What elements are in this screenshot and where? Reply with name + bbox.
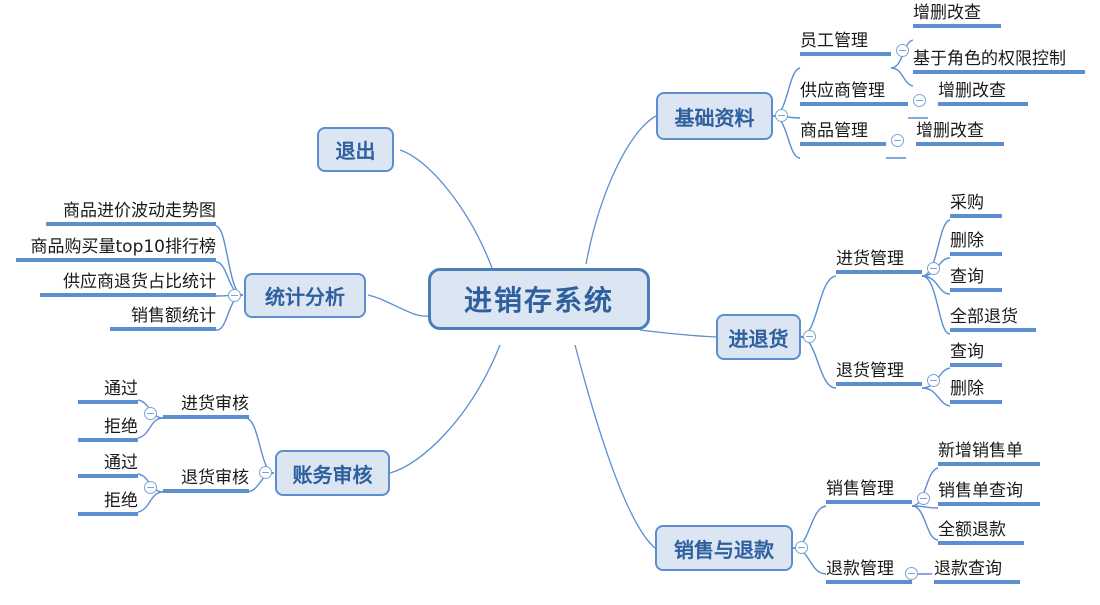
node-rule-tuikuan-tuikuanchaxun [934, 580, 1020, 584]
node-rule-tongji-xiaoshouetongji [110, 327, 216, 331]
branch-label-xiaoshouyutuikuan: 销售与退款 [674, 534, 774, 563]
collapse-icon-gongyingshangguanli[interactable] [913, 94, 926, 107]
node-rule-tuihuoshenhe [163, 489, 249, 493]
branch-label-tuichu: 退出 [336, 135, 376, 164]
node-rule-xiaoshouguanli [826, 500, 912, 504]
node-tuihuoguanli[interactable]: 退货管理 [836, 363, 922, 389]
node-label-xiaoshou-quanetuikuan: 全额退款 [938, 522, 1024, 539]
node-rule-tuihuoguanli [836, 382, 922, 386]
branch-node-zhangwushenhe[interactable]: 账务审核 [275, 450, 390, 496]
node-label-tongji-top10paihangbang: 商品购买量top10排行榜 [16, 239, 216, 256]
node-jinhuo-shanchu[interactable]: 删除 [950, 233, 1002, 259]
node-label-xiaoshou-xiaoshoudanchaxun: 销售单查询 [938, 483, 1040, 500]
node-label-tuihuo-shanchu: 删除 [950, 381, 1002, 398]
node-tongji-xiaoshouetongji[interactable]: 销售额统计 [110, 308, 216, 334]
node-label-jinhuoguanli: 进货管理 [836, 251, 922, 268]
node-tongji-jinjiabodongzoushitu[interactable]: 商品进价波动走势图 [46, 203, 216, 229]
node-label-jinhuo-caigou: 采购 [950, 195, 1002, 212]
node-shangpinguanli[interactable]: 商品管理 [800, 123, 886, 149]
branch-label-zhangwushenhe: 账务审核 [293, 459, 373, 488]
branch-label-jintuihuo: 进退货 [729, 323, 789, 352]
node-tuikuan-tuikuanchaxun[interactable]: 退款查询 [934, 561, 1020, 587]
branch-node-tongjifenxi[interactable]: 统计分析 [244, 273, 366, 318]
node-xiaoshou-xiaoshoudanchaxun[interactable]: 销售单查询 [938, 483, 1040, 509]
branch-label-tongjifenxi: 统计分析 [265, 281, 345, 310]
node-gongyingshangguanli[interactable]: 供应商管理 [800, 83, 908, 109]
node-tongji-top10paihangbang[interactable]: 商品购买量top10排行榜 [16, 239, 216, 265]
node-label-tuihuoshenhe-tongguo: 通过 [78, 455, 138, 472]
node-label-shangpin-zengshangaicha: 增删改查 [916, 123, 1004, 140]
node-rule-yuangongguanli [800, 52, 891, 56]
node-label-jinhuoshenhe-tongguo: 通过 [78, 381, 138, 398]
node-rule-jinhuo-caigou [950, 214, 1002, 218]
node-label-xiaoshou-xinzengxiaoshoudan: 新增销售单 [938, 443, 1040, 460]
node-label-tongji-jinjiabodongzoushitu: 商品进价波动走势图 [46, 203, 216, 220]
collapse-icon-tuikuanguanli[interactable] [905, 567, 918, 580]
node-label-jinhuo-chaxun: 查询 [950, 269, 1002, 286]
node-label-jinhuoshenhe-jujue: 拒绝 [78, 419, 138, 436]
node-jinhuo-quanbutuihuo[interactable]: 全部退货 [950, 309, 1036, 335]
node-yuangong-zengshangaicha[interactable]: 增删改查 [913, 5, 1001, 31]
node-tuihuoshenhe-jujue[interactable]: 拒绝 [78, 493, 138, 519]
node-label-jinhuo-quanbutuihuo: 全部退货 [950, 309, 1036, 326]
node-jinhuo-chaxun[interactable]: 查询 [950, 269, 1002, 295]
node-xiaoshou-quanetuikuan[interactable]: 全额退款 [938, 522, 1024, 548]
node-label-tuihuoshenhe-jujue: 拒绝 [78, 493, 138, 510]
node-label-gongyingshang-zengshangaicha: 增删改查 [938, 83, 1028, 100]
node-label-jinhuoshenhe: 进货审核 [163, 396, 249, 413]
node-tuihuoshenhe[interactable]: 退货审核 [163, 470, 249, 496]
node-label-gongyingshangguanli: 供应商管理 [800, 83, 908, 100]
node-rule-yuangong-zengshangaicha [913, 24, 1001, 28]
node-rule-xiaoshou-xiaoshoudanchaxun [938, 502, 1040, 506]
node-rule-jinhuo-shanchu [950, 252, 1002, 256]
node-rule-tuihuo-shanchu [950, 400, 1002, 404]
node-rule-jinhuoshenhe-tongguo [78, 400, 138, 404]
collapse-icon-xiaoshouyutuikuan[interactable] [795, 541, 808, 554]
node-rule-xiaoshou-xinzengxiaoshoudan [938, 462, 1040, 466]
node-jinhuoguanli[interactable]: 进货管理 [836, 251, 922, 277]
collapse-icon-tuihuoshenhe[interactable] [144, 481, 157, 494]
node-jinhuoshenhe-tongguo[interactable]: 通过 [78, 381, 138, 407]
node-rule-jinhuo-chaxun [950, 288, 1002, 292]
node-tuihuo-chaxun[interactable]: 查询 [950, 344, 1002, 370]
node-xiaoshou-xinzengxiaoshoudan[interactable]: 新增销售单 [938, 443, 1040, 469]
node-label-xiaoshouguanli: 销售管理 [826, 481, 912, 498]
node-rule-tongji-top10paihangbang [16, 258, 216, 262]
branch-node-jintuihuo[interactable]: 进退货 [716, 314, 801, 360]
root-node-label: 进销存系统 [464, 279, 614, 319]
node-label-shangpinguanli: 商品管理 [800, 123, 886, 140]
root-node-jinxiaocun[interactable]: 进销存系统 [428, 268, 650, 330]
branch-node-jichuziliao[interactable]: 基础资料 [656, 92, 773, 140]
collapse-icon-jinhuoguanli[interactable] [927, 262, 940, 275]
collapse-icon-tuihuoguanli[interactable] [927, 374, 940, 387]
node-tuihuo-shanchu[interactable]: 删除 [950, 381, 1002, 407]
collapse-icon-yuangongguanli[interactable] [896, 44, 909, 57]
node-label-jinhuo-shanchu: 删除 [950, 233, 1002, 250]
node-rule-jinhuoguanli [836, 270, 922, 274]
node-label-tuikuan-tuikuanchaxun: 退款查询 [934, 561, 1020, 578]
collapse-icon-xiaoshouguanli[interactable] [917, 492, 930, 505]
node-jinhuoshenhe[interactable]: 进货审核 [163, 396, 249, 422]
node-rule-jinhuo-quanbutuihuo [950, 328, 1036, 332]
node-rule-gongyingshang-zengshangaicha [938, 102, 1028, 106]
node-rule-jinhuoshenhe-jujue [78, 438, 138, 442]
node-rule-shangpinguanli [800, 142, 886, 146]
node-rule-gongyingshangguanli [800, 102, 908, 106]
node-yuangong-quanxiankongzhi[interactable]: 基于角色的权限控制 [913, 51, 1085, 77]
node-label-tuihuoshenhe: 退货审核 [163, 470, 249, 487]
collapse-icon-jichuziliao[interactable] [775, 109, 788, 122]
node-rule-tuihuoshenhe-jujue [78, 512, 138, 516]
node-rule-tuihuo-chaxun [950, 363, 1002, 367]
node-rule-tuikuanguanli [826, 580, 912, 584]
node-rule-tongji-tuihuozhanbitongji [40, 293, 216, 297]
branch-node-tuichu[interactable]: 退出 [317, 127, 394, 172]
node-shangpin-zengshangaicha[interactable]: 增删改查 [916, 123, 1004, 149]
node-rule-yuangong-quanxiankongzhi [913, 70, 1085, 74]
branch-label-jichuziliao: 基础资料 [675, 102, 755, 131]
collapse-icon-jintuihuo[interactable] [803, 330, 816, 343]
collapse-icon-tongjifenxi[interactable] [228, 289, 241, 302]
node-tuikuanguanli[interactable]: 退款管理 [826, 561, 912, 587]
node-jinhuoshenhe-jujue[interactable]: 拒绝 [78, 419, 138, 445]
node-label-yuangongguanli: 员工管理 [800, 33, 891, 50]
node-rule-xiaoshou-quanetuikuan [938, 541, 1024, 545]
mindmap-canvas: 进销存系统 基础资料 进退货 销售与退款 退出 统计分析 账务审核 员工管理 增… [0, 0, 1100, 605]
node-label-tongji-tuihuozhanbitongji: 供应商退货占比统计 [40, 274, 216, 291]
collapse-icon-shangpinguanli[interactable] [891, 134, 904, 147]
node-jinhuo-caigou[interactable]: 采购 [950, 195, 1002, 221]
node-label-yuangong-quanxiankongzhi: 基于角色的权限控制 [913, 51, 1085, 68]
node-label-tuihuoguanli: 退货管理 [836, 363, 922, 380]
node-label-tongji-xiaoshouetongji: 销售额统计 [110, 308, 216, 325]
node-label-yuangong-zengshangaicha: 增删改查 [913, 5, 1001, 22]
node-label-tuihuo-chaxun: 查询 [950, 344, 1002, 361]
node-xiaoshouguanli[interactable]: 销售管理 [826, 481, 912, 507]
node-gongyingshang-zengshangaicha[interactable]: 增删改查 [938, 83, 1028, 109]
node-rule-jinhuoshenhe [163, 415, 249, 419]
node-rule-tongji-jinjiabodongzoushitu [46, 222, 216, 226]
node-tuihuoshenhe-tongguo[interactable]: 通过 [78, 455, 138, 481]
node-tongji-tuihuozhanbitongji[interactable]: 供应商退货占比统计 [40, 274, 216, 300]
node-label-tuikuanguanli: 退款管理 [826, 561, 912, 578]
branch-node-xiaoshouyutuikuan[interactable]: 销售与退款 [655, 525, 793, 571]
node-rule-shangpin-zengshangaicha [916, 142, 1004, 146]
collapse-icon-zhangwushenhe[interactable] [259, 466, 272, 479]
collapse-icon-jinhuoshenhe[interactable] [144, 407, 157, 420]
node-yuangongguanli[interactable]: 员工管理 [800, 33, 891, 59]
node-rule-tuihuoshenhe-tongguo [78, 474, 138, 478]
